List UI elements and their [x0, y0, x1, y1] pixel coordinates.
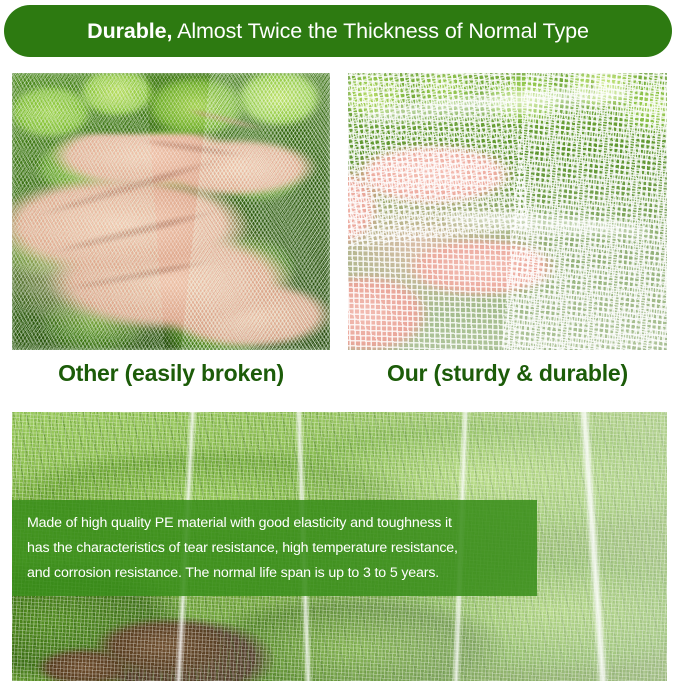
caption-other: Other (easily broken) — [12, 357, 330, 389]
description-panel: Made of high quality PE material with go… — [12, 500, 537, 596]
description-line: has the characteristics of tear resistan… — [27, 536, 522, 561]
header-banner: Durable, Almost Twice the Thickness of N… — [4, 5, 672, 57]
photo-our-mesh — [348, 73, 667, 350]
description-line: and corrosion resistance. The normal lif… — [27, 561, 522, 586]
description-line: Made of high quality PE material with go… — [27, 511, 522, 536]
photo-other-mesh — [12, 73, 330, 350]
header-banner-lead: Durable, — [87, 19, 172, 43]
caption-our: Our (sturdy & durable) — [348, 357, 667, 389]
fine-mesh-fold — [12, 73, 165, 350]
header-banner-text: Durable, Almost Twice the Thickness of N… — [87, 19, 589, 44]
header-banner-rest: Almost Twice the Thickness of Normal Typ… — [172, 19, 588, 43]
thick-mesh-right — [501, 73, 667, 350]
thick-mesh-fold — [348, 73, 530, 249]
